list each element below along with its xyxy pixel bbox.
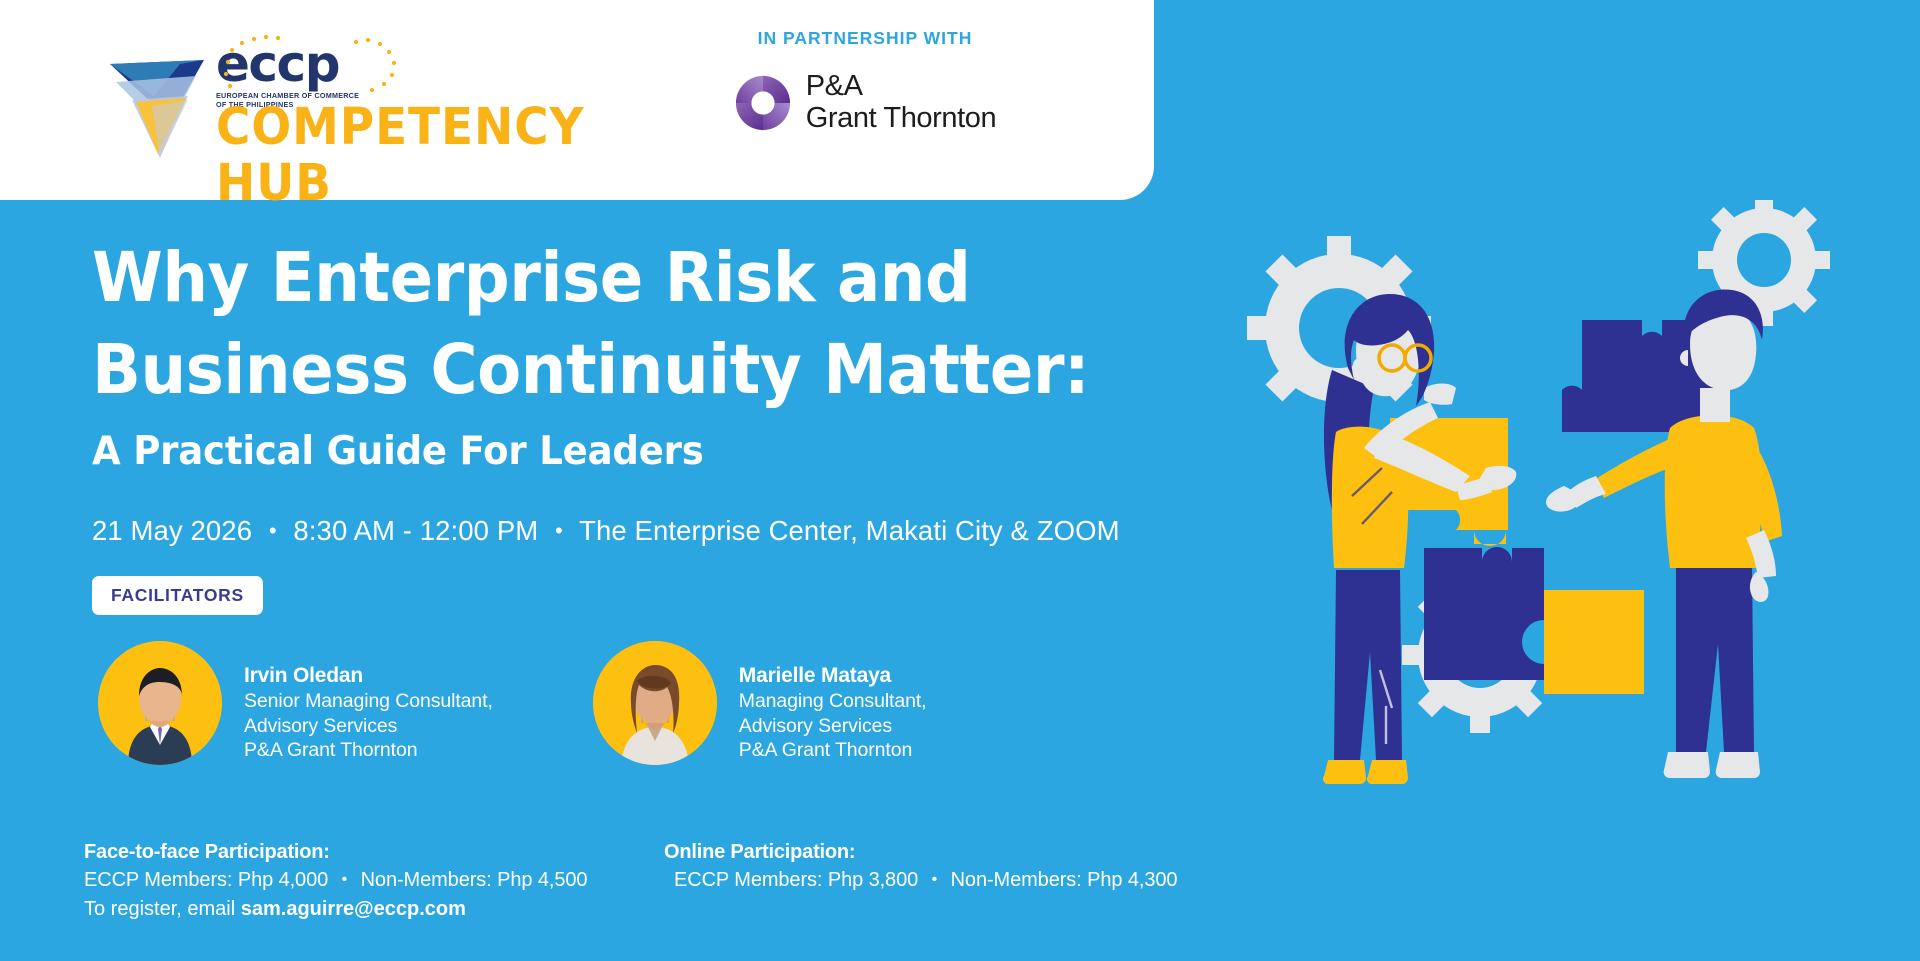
- facilitator-photo-irvin-oledan: [98, 641, 222, 765]
- main-content: Why Enterprise Risk and Business Continu…: [92, 232, 1252, 765]
- facilitator-role-line1: Senior Managing Consultant,: [244, 689, 493, 714]
- event-banner: eccp EUROPEAN CHAMBER OF: [0, 0, 1920, 961]
- eccp-logo-lockup: eccp EUROPEAN CHAMBER OF: [108, 32, 598, 162]
- facilitator-role-line2: Advisory Services: [739, 714, 927, 739]
- online-member-price: ECCP Members: Php 3,800: [674, 869, 918, 891]
- facilitator-photo-marielle-mataya: [593, 641, 717, 765]
- event-date: 21 May 2026: [92, 515, 252, 546]
- event-title-line-2: Business Continuity Matter:: [92, 324, 1171, 416]
- f2f-nonmember-price: Non-Members: Php 4,500: [361, 869, 588, 891]
- facilitator-name: Marielle Mataya: [739, 663, 927, 689]
- partnership-block: IN PARTNERSHIP WITH: [700, 28, 1030, 134]
- facilitator-details: Irvin Oledan Senior Managing Consultant,…: [244, 641, 493, 763]
- header-panel: eccp EUROPEAN CHAMBER OF: [0, 0, 1154, 200]
- event-title-line-1: Why Enterprise Risk and: [92, 232, 1171, 324]
- facilitators-badge: FACILITATORS: [92, 576, 263, 615]
- online-price-separator: •: [924, 871, 946, 888]
- facilitator-card: Marielle Mataya Managing Consultant, Adv…: [593, 641, 927, 765]
- online-prices: ECCP Members: Php 3,800 • Non-Members: P…: [664, 866, 1224, 894]
- avatar: [98, 641, 222, 765]
- grant-thornton-logo: P&A Grant Thornton: [700, 71, 1030, 134]
- registration-email[interactable]: sam.aguirre@eccp.com: [241, 898, 466, 920]
- grant-thornton-wordmark: P&A Grant Thornton: [806, 71, 997, 134]
- pricing-column-online: Online Participation: ECCP Members: Php …: [664, 838, 1224, 923]
- meta-separator-1: •: [260, 518, 286, 543]
- pricing-section: Face-to-face Participation: ECCP Members…: [84, 838, 1264, 923]
- avatar: [593, 641, 717, 765]
- facilitator-name: Irvin Oledan: [244, 663, 493, 689]
- facilitator-details: Marielle Mataya Managing Consultant, Adv…: [739, 641, 927, 763]
- gt-wordmark-line2: Grant Thornton: [806, 102, 997, 134]
- puzzle-navy-bottom-icon: [1424, 547, 1544, 680]
- pricing-columns: Face-to-face Participation: ECCP Members…: [84, 838, 1264, 923]
- facilitator-company: P&A Grant Thornton: [244, 738, 493, 763]
- facilitator-company: P&A Grant Thornton: [739, 738, 927, 763]
- meta-separator-2: •: [546, 518, 572, 543]
- gt-wordmark-line1: P&A: [806, 71, 997, 102]
- facilitators-list: Irvin Oledan Senior Managing Consultant,…: [92, 641, 1252, 765]
- eccp-arrow-icon: [108, 34, 226, 160]
- partnership-label: IN PARTNERSHIP WITH: [700, 28, 1030, 49]
- pricing-column-face-to-face: Face-to-face Participation: ECCP Members…: [84, 838, 664, 923]
- event-time: 8:30 AM - 12:00 PM: [293, 515, 538, 546]
- illustration-teamwork: [1224, 200, 1884, 860]
- facilitator-card: Irvin Oledan Senior Managing Consultant,…: [98, 641, 493, 765]
- facilitator-role-line2: Advisory Services: [244, 714, 493, 739]
- event-venue: The Enterprise Center, Makati City & ZOO…: [579, 515, 1120, 546]
- competency-hub-wordmark: COMPETENCY HUB: [216, 100, 584, 212]
- f2f-prices: ECCP Members: Php 4,000 • Non-Members: P…: [84, 866, 664, 894]
- registration-prefix: To register, email: [84, 898, 241, 920]
- grant-thornton-mark-icon: [734, 74, 792, 132]
- registration-line: To register, email sam.aguirre@eccp.com: [84, 895, 664, 923]
- event-subtitle: A Practical Guide For Leaders: [92, 424, 1194, 480]
- facilitator-role-line1: Managing Consultant,: [739, 689, 927, 714]
- f2f-member-price: ECCP Members: Php 4,000: [84, 869, 328, 891]
- illustration-svg: [1224, 200, 1884, 860]
- online-nonmember-price: Non-Members: Php 4,300: [951, 869, 1178, 891]
- online-heading: Online Participation:: [664, 838, 1224, 866]
- f2f-heading: Face-to-face Participation:: [84, 838, 664, 866]
- eccp-wordmark: eccp: [216, 38, 596, 90]
- f2f-price-separator: •: [334, 871, 356, 888]
- event-meta-line: 21 May 2026 • 8:30 AM - 12:00 PM • The E…: [92, 514, 1252, 548]
